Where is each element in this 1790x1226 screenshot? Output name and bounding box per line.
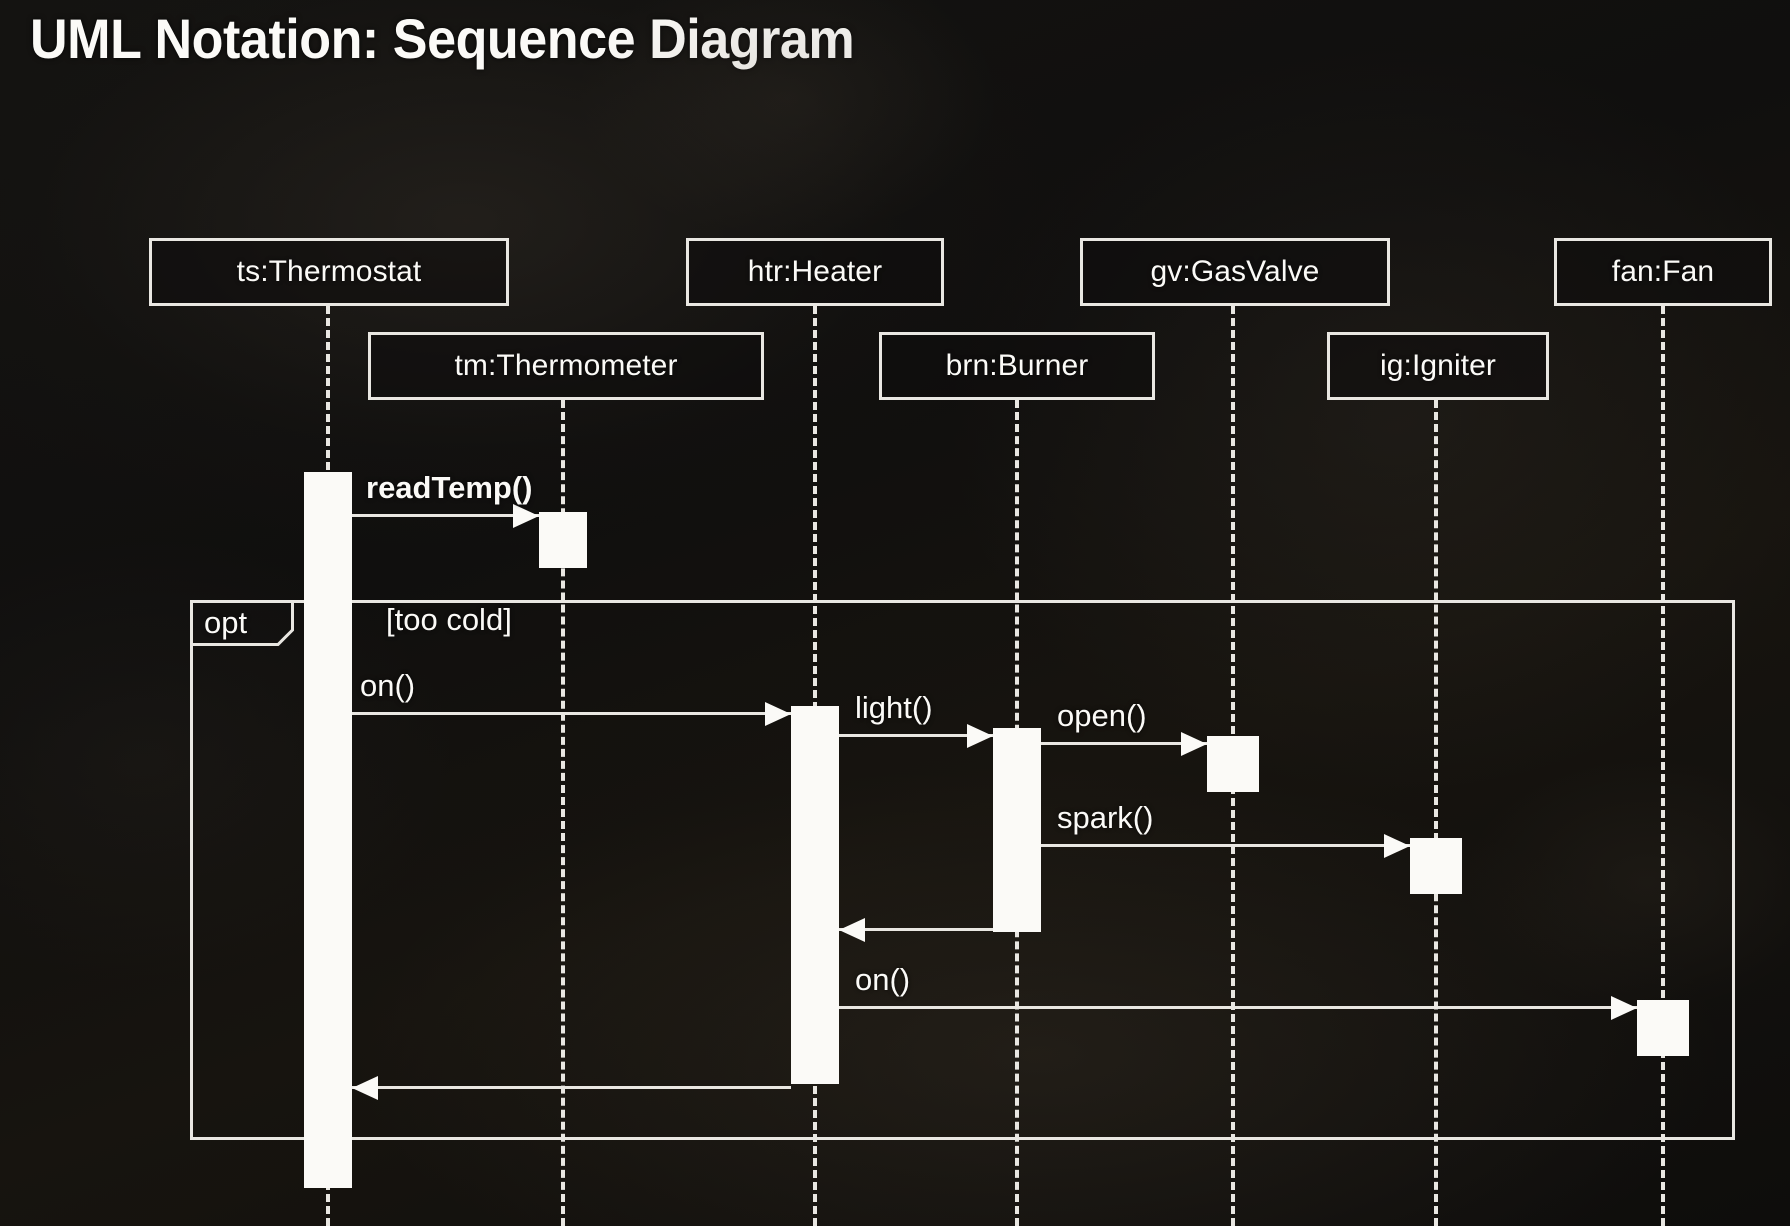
participant-box-tm[interactable]: tm:Thermometer bbox=[368, 332, 764, 400]
activation-htr bbox=[791, 706, 839, 1084]
message-label-m-spark: spark() bbox=[1057, 800, 1153, 836]
arrowhead-left-m-ret-htr bbox=[352, 1076, 378, 1100]
participant-label-ig: ig:Igniter bbox=[1380, 349, 1496, 383]
message-line-m-spark bbox=[1041, 844, 1410, 847]
participant-box-brn[interactable]: brn:Burner bbox=[879, 332, 1155, 400]
participant-box-ts[interactable]: ts:Thermostat bbox=[149, 238, 509, 306]
participant-box-gv[interactable]: gv:GasValve bbox=[1080, 238, 1390, 306]
arrowhead-right-m-open bbox=[1181, 732, 1207, 756]
participant-box-htr[interactable]: htr:Heater bbox=[686, 238, 944, 306]
participant-label-gv: gv:GasValve bbox=[1151, 255, 1320, 289]
sequence-diagram: opt[too cold]readTemp()on()light()open()… bbox=[0, 0, 1790, 1226]
activation-ig bbox=[1410, 838, 1462, 894]
participant-label-tm: tm:Thermometer bbox=[454, 349, 677, 383]
participant-box-fan[interactable]: fan:Fan bbox=[1554, 238, 1772, 306]
message-line-m-ret-htr bbox=[352, 1086, 791, 1089]
fragment-operator-tab: opt bbox=[190, 600, 294, 646]
fragment-opt bbox=[190, 600, 1735, 1140]
participant-box-ig[interactable]: ig:Igniter bbox=[1327, 332, 1549, 400]
message-line-m-readtemp bbox=[352, 514, 539, 517]
slide-canvas: UML Notation: Sequence Diagram opt[too c… bbox=[0, 0, 1790, 1226]
activation-ts bbox=[304, 472, 352, 1188]
message-label-m-on-htr: on() bbox=[360, 668, 415, 704]
participant-label-htr: htr:Heater bbox=[748, 255, 882, 289]
message-label-m-open: open() bbox=[1057, 698, 1147, 734]
arrowhead-right-m-light bbox=[967, 724, 993, 748]
message-line-m-on-fan bbox=[839, 1006, 1637, 1009]
arrowhead-right-m-on-fan bbox=[1611, 996, 1637, 1020]
participant-label-ts: ts:Thermostat bbox=[237, 255, 422, 289]
message-label-m-light: light() bbox=[855, 690, 933, 726]
activation-tm bbox=[539, 512, 587, 568]
activation-brn bbox=[993, 728, 1041, 932]
message-line-m-on-htr bbox=[352, 712, 791, 715]
arrowhead-right-m-on-htr bbox=[765, 702, 791, 726]
message-label-m-readtemp: readTemp() bbox=[366, 470, 533, 506]
message-label-m-on-fan: on() bbox=[855, 962, 910, 998]
arrowhead-left-m-ret-brn bbox=[839, 918, 865, 942]
activation-fan bbox=[1637, 1000, 1689, 1056]
arrowhead-right-m-readtemp bbox=[513, 504, 539, 528]
participant-label-brn: brn:Burner bbox=[946, 349, 1089, 383]
arrowhead-right-m-spark bbox=[1384, 834, 1410, 858]
fragment-guard-label: [too cold] bbox=[386, 602, 512, 638]
activation-gv bbox=[1207, 736, 1259, 792]
participant-label-fan: fan:Fan bbox=[1612, 255, 1714, 289]
fragment-operator-label: opt bbox=[204, 605, 247, 641]
